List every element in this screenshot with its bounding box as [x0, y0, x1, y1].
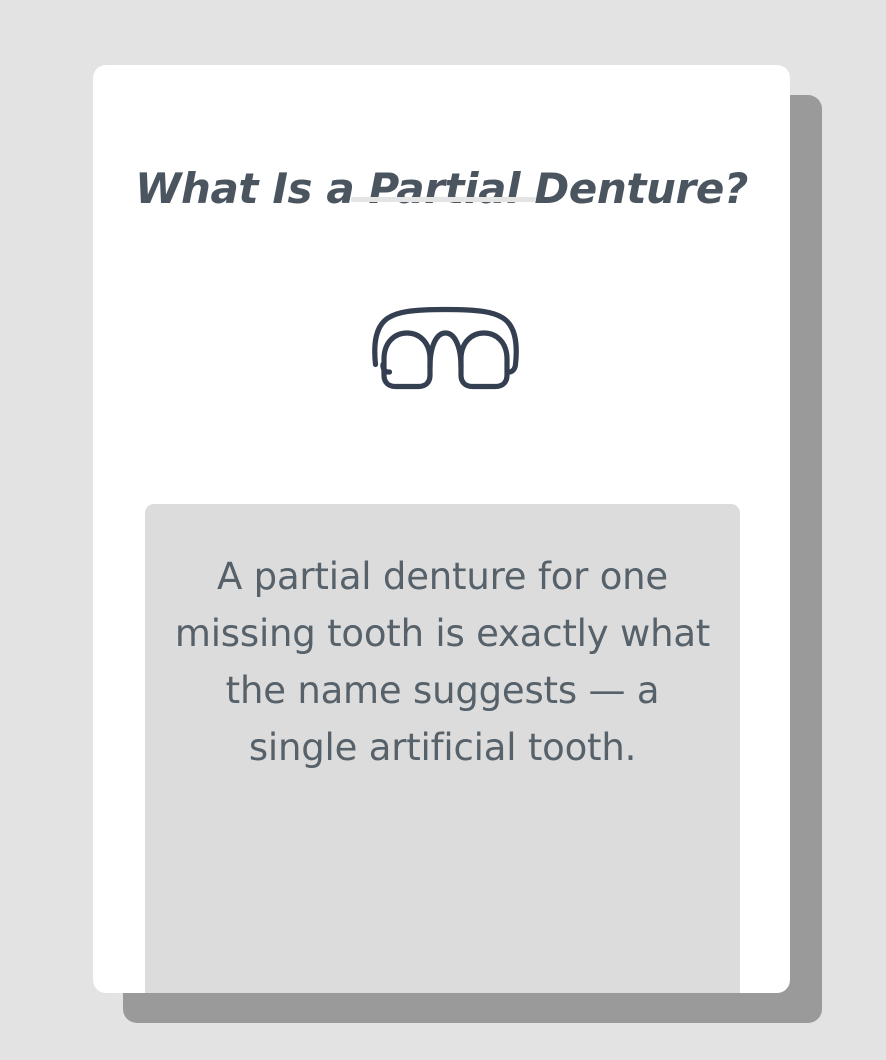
info-card: What Is a Partial Denture? A partial den…	[93, 65, 790, 993]
partial-denture-icon	[368, 303, 523, 393]
description-panel: A partial denture for one missing tooth …	[145, 504, 740, 993]
description-text: A partial denture for one missing tooth …	[167, 548, 718, 776]
slide-canvas: What Is a Partial Denture? A partial den…	[0, 0, 886, 1060]
page-title: What Is a Partial Denture?	[93, 166, 790, 212]
title-divider	[351, 197, 536, 202]
